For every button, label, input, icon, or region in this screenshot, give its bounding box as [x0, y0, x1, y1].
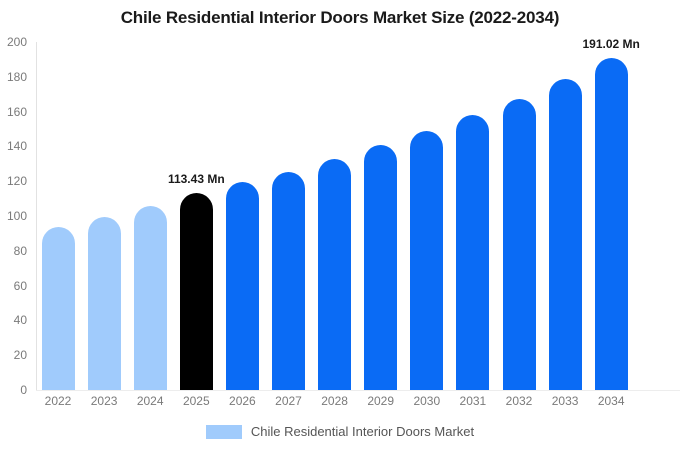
y-axis-tick-label: 0: [20, 383, 36, 397]
y-axis-tick-label: 60: [14, 279, 36, 293]
x-axis-tick-label: 2023: [91, 394, 118, 408]
legend-item-label: Chile Residential Interior Doors Market: [251, 424, 474, 439]
x-axis-tick-label: 2029: [367, 394, 394, 408]
bar-2031[interactable]: [456, 115, 489, 390]
x-axis-line: [36, 390, 680, 391]
bar-2022[interactable]: [42, 227, 75, 390]
y-axis-tick-label: 80: [14, 244, 36, 258]
x-axis-tick-label: 2024: [137, 394, 164, 408]
x-axis-tick-label: 2026: [229, 394, 256, 408]
chart-legend: Chile Residential Interior Doors Market: [0, 424, 680, 439]
y-axis-tick-label: 180: [7, 70, 36, 84]
x-axis-tick-label: 2033: [552, 394, 579, 408]
bar-2026[interactable]: [226, 182, 259, 390]
x-axis-tick-label: 2025: [183, 394, 210, 408]
x-axis-tick-label: 2032: [506, 394, 533, 408]
y-axis-tick-label: 100: [7, 209, 36, 223]
bar-data-label-2034: 191.02 Mn: [583, 37, 640, 51]
bar-2024[interactable]: [134, 206, 167, 390]
bar-2032[interactable]: [503, 99, 536, 390]
bar-data-label-2025: 113.43 Mn: [168, 172, 225, 186]
bar-2023[interactable]: [88, 217, 121, 390]
y-axis-tick-label: 140: [7, 139, 36, 153]
y-axis-tick-label: 120: [7, 174, 36, 188]
bar-2028[interactable]: [318, 159, 351, 390]
bar-2034[interactable]: [595, 58, 628, 390]
bar-2030[interactable]: [410, 131, 443, 390]
x-axis-tick-label: 2022: [45, 394, 72, 408]
bar-2033[interactable]: [549, 79, 582, 390]
legend-swatch-icon: [206, 425, 242, 439]
x-axis-tick-label: 2031: [460, 394, 487, 408]
y-axis-tick-label: 200: [7, 35, 36, 49]
bar-chart: Chile Residential Interior Doors Market …: [0, 0, 680, 450]
y-axis-tick-label: 20: [14, 348, 36, 362]
x-axis-tick-label: 2028: [321, 394, 348, 408]
y-axis-tick-label: 160: [7, 105, 36, 119]
bar-2029[interactable]: [364, 145, 397, 390]
x-axis-tick-label: 2027: [275, 394, 302, 408]
plot-area: 020406080100120140160180200 113.43 Mn191…: [36, 42, 680, 390]
x-axis-tick-label: 2030: [413, 394, 440, 408]
bar-2027[interactable]: [272, 172, 305, 390]
bar-2025[interactable]: [180, 193, 213, 390]
chart-title: Chile Residential Interior Doors Market …: [0, 8, 680, 28]
y-axis-tick-label: 40: [14, 313, 36, 327]
x-axis-tick-label: 2034: [598, 394, 625, 408]
